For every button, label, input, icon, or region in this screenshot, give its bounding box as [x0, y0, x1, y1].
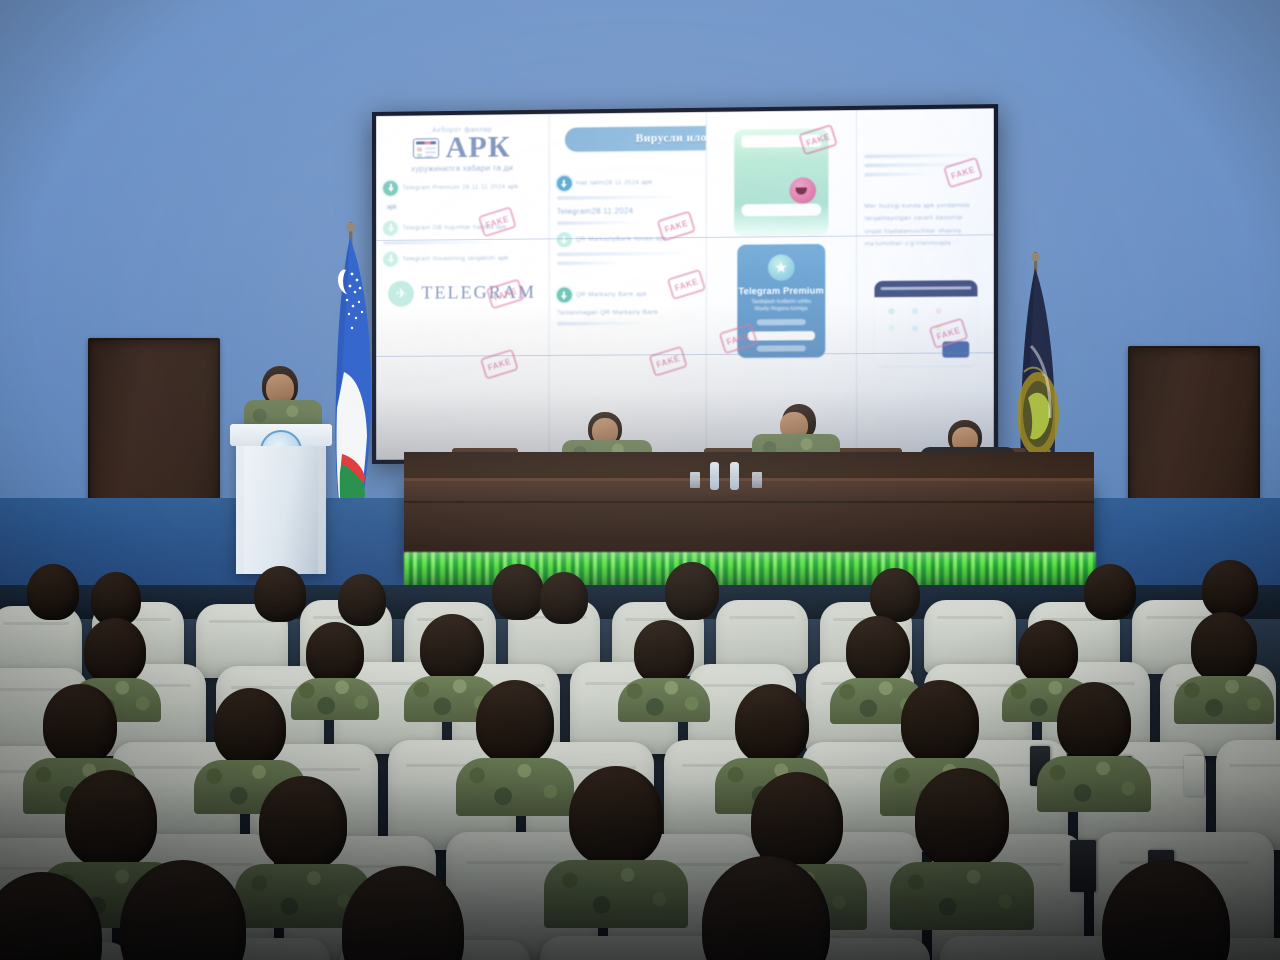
- list-item-label: QR Markaziy Bank.apk: [576, 291, 647, 299]
- file-chip: apk: [383, 202, 401, 212]
- attendee-shoulders: [890, 862, 1034, 930]
- seat-writing-tablet[interactable]: [1184, 756, 1204, 796]
- apk-app-icon: [413, 138, 439, 158]
- attendee-head: [901, 680, 979, 764]
- presentation-video-wall[interactable]: Ахборот фанлар АРК хуружинилга хабари та…: [372, 104, 998, 464]
- attendee: [628, 620, 700, 710]
- attendee: [1048, 682, 1140, 794]
- fake-stamp: FAKE: [480, 349, 519, 380]
- attendee: [22, 564, 84, 634]
- attendee-head: [702, 856, 830, 960]
- text-line: [556, 261, 621, 266]
- text-line: [864, 172, 927, 177]
- list-item-label: Telegram Premium 28.11.11.2024 apk: [402, 183, 519, 191]
- premium-pill: [757, 318, 806, 324]
- telegram-premium-title: Telegram Premium: [738, 285, 823, 296]
- premium-footnote: [757, 345, 806, 351]
- drinking-glass: [752, 472, 762, 488]
- attendee-head: [420, 614, 484, 682]
- premium-star-icon: [768, 254, 795, 281]
- analysis-paragraph: Mer hozirgi kunda apk yordamida tarqatil…: [864, 200, 981, 251]
- download-icon: [383, 180, 398, 195]
- attendee-head: [120, 860, 246, 960]
- auditorium-scene: Ахборот фанлар АРК хуружинилга хабари та…: [0, 0, 1280, 960]
- fake-stamp: FAKE: [666, 269, 705, 300]
- telegram-premium-subtitle: Tasdiqlash kodlarini ushbu Maxfiy Regana…: [743, 299, 819, 314]
- text-line: [556, 321, 647, 326]
- slide-banner: Вирусли илова ва ҳаволалар: [565, 124, 706, 152]
- attendee-head: [254, 566, 306, 622]
- slide-banner-title: Вирусли илова ва ҳаволалар: [636, 131, 706, 145]
- attendee-shoulders: [456, 758, 574, 816]
- list-item-label: QR MarkaziyBank ilovasi.apk: [576, 235, 667, 243]
- speaking-podium: [236, 424, 326, 574]
- fake-stamp: FAKE: [943, 157, 983, 189]
- list-item: Hali talim28.11.2024.apk: [556, 174, 698, 191]
- attendee-shoulders: [291, 678, 379, 720]
- chat-input-bubble: [741, 203, 821, 216]
- attendee-shoulders: [544, 860, 688, 928]
- attendee: [0, 872, 114, 960]
- attendee-head: [634, 620, 694, 684]
- attendee-head: [43, 684, 117, 764]
- list-item-label: Hali talim28.11.2024.apk: [576, 179, 653, 187]
- attendee-head: [1084, 564, 1136, 620]
- attendee: [300, 622, 370, 710]
- attendee-head: [214, 688, 286, 766]
- presentation-slide: Ахборот фанлар АРК хуружинилга хабари та…: [376, 108, 994, 460]
- list-item: Telegram GB hujumlar haqida apk: [383, 219, 541, 236]
- text-line: [556, 195, 678, 200]
- download-icon: [556, 287, 571, 302]
- text-line: [556, 251, 686, 256]
- list-item-label: Telegram Ilovasining tarqalishi apk: [402, 254, 509, 262]
- apk-subtitle: хуружинилга хабари та.ди: [383, 163, 541, 174]
- attendee-head: [1102, 860, 1230, 960]
- text-line: [383, 239, 494, 244]
- attendee-head: [338, 574, 386, 626]
- attendee-head: [0, 872, 102, 960]
- attendee-head: [870, 568, 920, 622]
- premium-input-field[interactable]: [747, 331, 814, 341]
- attendee: [108, 860, 258, 960]
- attendee-shoulders: [618, 678, 710, 722]
- attendee: [468, 680, 562, 794]
- water-bottle: [710, 462, 719, 490]
- attendee-head: [306, 622, 364, 684]
- list-item: Telegram Premium 28.11.11.2024 apk: [383, 179, 541, 196]
- attendee: [1080, 564, 1140, 634]
- attendee: [1184, 612, 1264, 706]
- apk-brand-header: Ахборот фанлар АРК хуружинилга хабари та…: [383, 120, 541, 173]
- attendee: [1090, 860, 1242, 960]
- attendee-head: [65, 770, 157, 868]
- attendee-head: [540, 572, 588, 624]
- water-bottle: [730, 462, 739, 490]
- podium-body: [244, 446, 318, 574]
- fake-stamp: FAKE: [648, 346, 688, 377]
- attendee-head: [569, 766, 663, 866]
- attendee-head: [84, 618, 146, 684]
- download-icon: [556, 176, 571, 191]
- attendee-shoulders: [1037, 756, 1151, 812]
- attendee-head: [27, 564, 79, 620]
- attendee-head: [1191, 612, 1257, 682]
- list-item: Telegram Ilovasining tarqalishi apk: [383, 250, 541, 266]
- seat[interactable]: [924, 600, 1016, 674]
- audience-area: [0, 560, 1280, 960]
- attendee-head: [259, 776, 347, 870]
- attendee-head: [846, 616, 910, 684]
- attendee-head: [735, 684, 809, 764]
- attendee: [560, 766, 672, 902]
- analysis-text-panel: Mer hozirgi kunda apk yordamida tarqatil…: [856, 108, 994, 458]
- list-item-label: Telegram28.11.2024: [556, 206, 633, 216]
- download-icon: [556, 232, 571, 247]
- apk-acronym: АРК: [446, 133, 511, 162]
- drinking-glass: [690, 472, 700, 488]
- apk-brand-panel: Ахборот фанлар АРК хуружинилга хабари та…: [376, 114, 548, 460]
- attendee-head: [476, 680, 554, 764]
- attendee-head: [1057, 682, 1131, 762]
- attendee: [690, 856, 842, 960]
- attendee: [536, 572, 592, 640]
- attendee-shoulders: [1174, 676, 1274, 724]
- telegram-icon: [388, 280, 414, 306]
- site-header-bar: [874, 281, 977, 298]
- list-item: Tanlanmagan QR Markaziy Bank: [556, 309, 698, 317]
- attendee: [906, 768, 1018, 904]
- attendee-head: [915, 768, 1009, 868]
- text-line: [556, 220, 638, 225]
- attendee: [330, 866, 476, 960]
- list-item-label: Tanlanmagan QR Markaziy Bank: [556, 309, 658, 317]
- attendee-head: [342, 866, 464, 960]
- text-line: [864, 153, 979, 158]
- attendee-head: [1018, 620, 1078, 684]
- seat[interactable]: [716, 600, 808, 674]
- attendee-head: [665, 562, 719, 620]
- attendee-head: [1202, 560, 1258, 618]
- apk-logo-row: АРК: [383, 133, 541, 163]
- sticker-mascot-icon: [789, 177, 816, 204]
- apk-list-panel: Вирусли илова ва ҳаволалар Hali talim28.…: [548, 112, 705, 460]
